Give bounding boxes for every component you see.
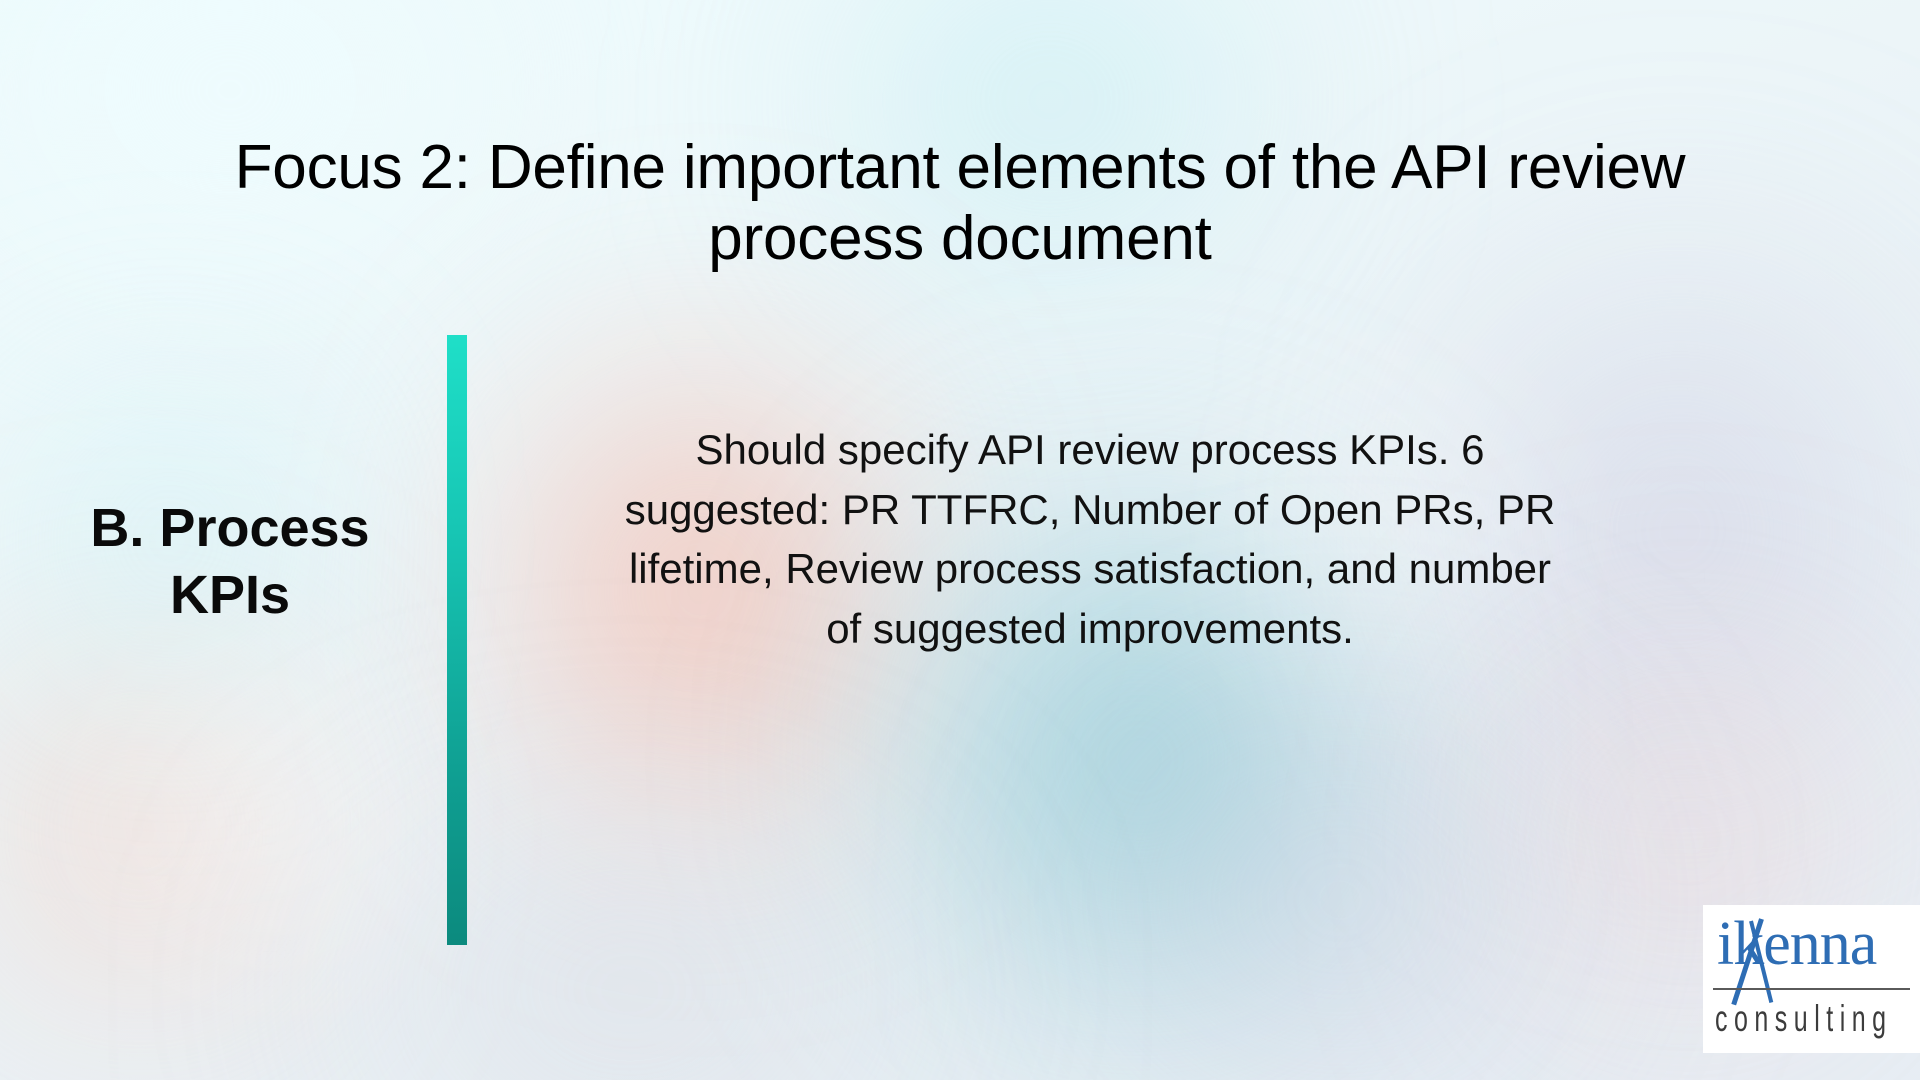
logo-divider	[1713, 988, 1910, 990]
presentation-slide: Focus 2: Define important elements of th…	[0, 0, 1920, 1080]
logo-wordmark: ikenna	[1717, 913, 1876, 975]
category-label: B. Process KPIs	[40, 495, 420, 629]
body-text: Should specify API review process KPIs. …	[610, 420, 1570, 659]
logo: ikenna consulting	[1703, 905, 1920, 1053]
logo-inner: ikenna consulting	[1703, 905, 1920, 1053]
slide-content: Focus 2: Define important elements of th…	[0, 0, 1920, 1080]
logo-subtitle: consulting	[1715, 1001, 1911, 1039]
slide-title: Focus 2: Define important elements of th…	[190, 132, 1730, 276]
accent-bar	[447, 335, 467, 945]
